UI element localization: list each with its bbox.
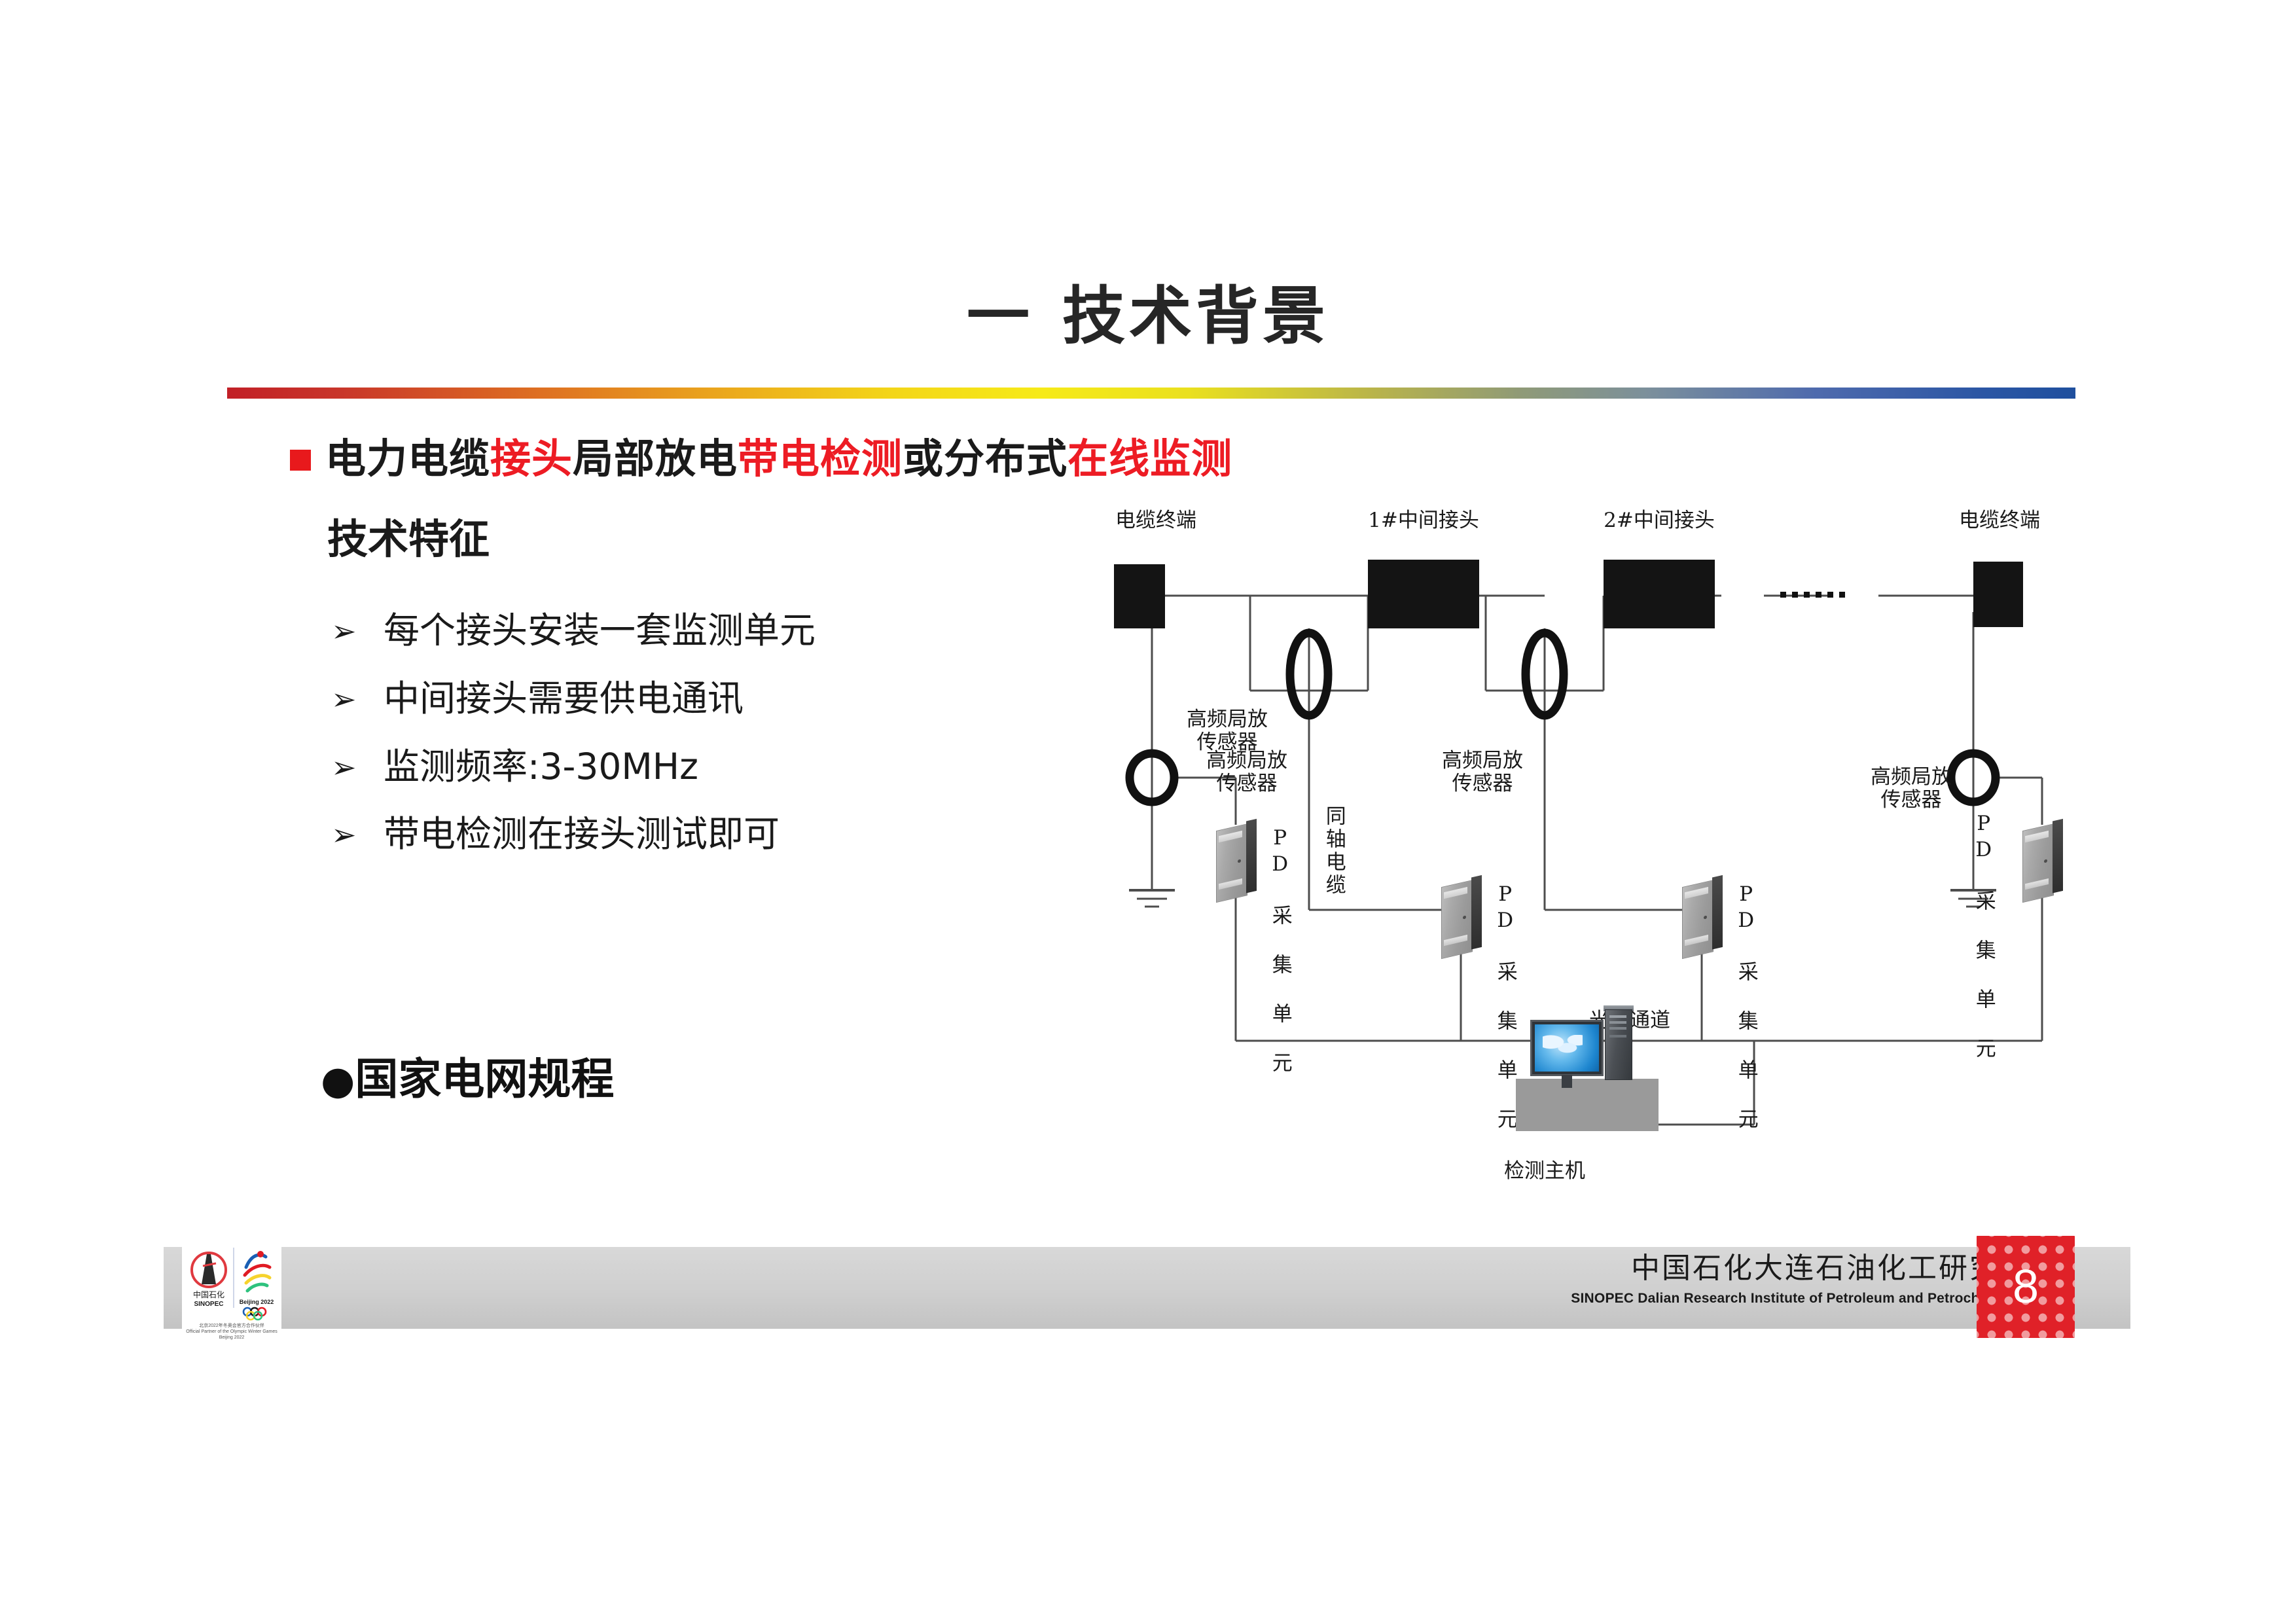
national-grid-note: ●国家电网规程 [321,1044,614,1107]
bullet-list: ➢ 每个接头安装一套监测单元 ➢ 中间接头需要供电通讯 ➢ 监测频率:3-30M… [331,612,1103,884]
footer-name-en: SINOPEC Dalian Research Institute of Pet… [1571,1291,2031,1307]
diagram-label-pd-unit-3: PD 采 集 单 元 [1734,882,1757,1131]
footer-logo-group: 中国石化 SINOPEC Beijing 2022 北京2022年冬奥会官方合作… [182,1228,281,1346]
host-monitor [1530,1020,1604,1076]
host-monitor-stand [1562,1075,1572,1088]
pd-acquisition-unit-1 [1216,821,1257,901]
pd-acquisition-unit-3 [1682,878,1723,958]
diagram-label-sensor-2: 高频局放 传感器 [1191,749,1302,795]
list-item: ➢ 带电检测在接头测试即可 [331,816,1103,854]
diagram-label-pd-unit-4: PD 采 集 单 元 [1972,812,1995,1060]
diagram-label-sensor-4: 高频局放 传感器 [1856,766,1967,811]
page-number: 8 [1977,1236,2075,1338]
diagram-label-host: 检测主机 [1479,1160,1610,1183]
page-title: 一技术背景 [0,265,2296,356]
pd-acquisition-unit-2 [1441,878,1482,958]
arrow-bullet-icon: ➢ [331,816,384,850]
headline-seg5: 或分布式 [903,435,1067,482]
svg-text:中国石化: 中国石化 [193,1290,224,1299]
pd-acquisition-unit-4 [2022,821,2063,901]
list-item-label: 带电检测在接头测试即可 [384,816,780,854]
cable-terminal-left [1114,564,1165,628]
diagram-label-terminal-left: 电缆终端 [1097,509,1215,532]
diagram-label-pd-unit-1: PD 采 集 单 元 [1268,826,1291,1075]
joint-box-2 [1604,560,1715,628]
headline-seg1: 电力电缆 [325,435,490,482]
arrow-bullet-icon: ➢ [331,748,384,782]
list-item-label: 中间接头需要供电通讯 [384,680,744,718]
list-item: ➢ 中间接头需要供电通讯 [331,680,1103,718]
list-item-label: 监测频率:3-30MHz [384,748,698,786]
list-item: ➢ 监测频率:3-30MHz [331,748,1103,786]
cable-terminal-right [1973,562,2023,627]
diagram-label-sensor-3: 高频局放 传感器 [1427,749,1538,795]
subheading: 技术特征 [327,506,490,565]
sinopec-partner-caption-cn: 北京2022年冬奥会官方合作伙伴 [185,1324,279,1329]
pd-unit-side [2053,819,2063,893]
diagram-label-coax-cable: 同轴电缆 [1322,805,1345,897]
sinopec-partner-caption-en: Official Partner of the Olympic Winter G… [185,1329,279,1341]
diagram-label-sensor-1: 高频局放 传感器 [1172,708,1283,753]
diagram-label-pd-unit-2: PD 采 集 单 元 [1494,882,1516,1131]
host-tower [1605,1009,1632,1080]
national-grid-note-label: 国家电网规程 [355,1054,614,1104]
sinopec-partner-caption: 北京2022年冬奥会官方合作伙伴 Official Partner of the… [185,1324,279,1341]
diagram-label-joint-1: 1#中间接头 [1358,509,1489,532]
arrow-bullet-icon: ➢ [331,680,384,714]
list-item-label: 每个接头安装一套监测单元 [384,612,816,650]
logo-divider [233,1248,234,1308]
headline-seg6: 在线监测 [1067,435,1232,482]
gradient-divider-bar [227,388,2075,399]
round-bullet-icon: ● [321,1058,355,1104]
diagram-label-terminal-right: 电缆终端 [1941,509,2058,532]
title-number: 一 [967,280,1033,353]
sinopec-logo-icon: 中国石化 SINOPEC [188,1244,229,1322]
slide-canvas: 一技术背景 电力电缆接头局部放电带电检测或分布式在线监测 技术特征 ➢ 每个接头… [0,0,2296,1624]
diagram-label-joint-2: 2#中间接头 [1594,509,1725,532]
headline-seg3: 局部放电 [573,435,738,482]
joint-box-1 [1368,560,1479,628]
pd-unit-side [1712,875,1723,950]
host-screen-worldmap [1535,1024,1599,1072]
svg-text:Beijing 2022: Beijing 2022 [240,1299,274,1305]
pd-unit-side [1471,875,1482,950]
footer-institute-name: 中国石化大连石油化工研究院 SINOPEC Dalian Research In… [1571,1252,2031,1307]
monitoring-host-computer [1516,1001,1659,1126]
svg-text:SINOPEC: SINOPEC [194,1301,223,1308]
arrow-bullet-icon: ➢ [331,612,384,646]
square-bullet-icon [290,450,311,471]
headline-seg2: 接头 [490,435,573,482]
pd-unit-side [1246,819,1257,893]
title-text: 技术背景 [1062,280,1329,353]
headline: 电力电缆接头局部放电带电检测或分布式在线监测 [290,425,1232,484]
list-item: ➢ 每个接头安装一套监测单元 [331,612,1103,650]
headline-seg4: 带电检测 [738,435,903,482]
footer-name-cn: 中国石化大连石油化工研究院 [1571,1252,2031,1286]
host-desk [1516,1079,1659,1131]
beijing-2022-olympic-logo-icon: Beijing 2022 [237,1244,276,1322]
page-number-badge: 8 [1977,1236,2075,1338]
